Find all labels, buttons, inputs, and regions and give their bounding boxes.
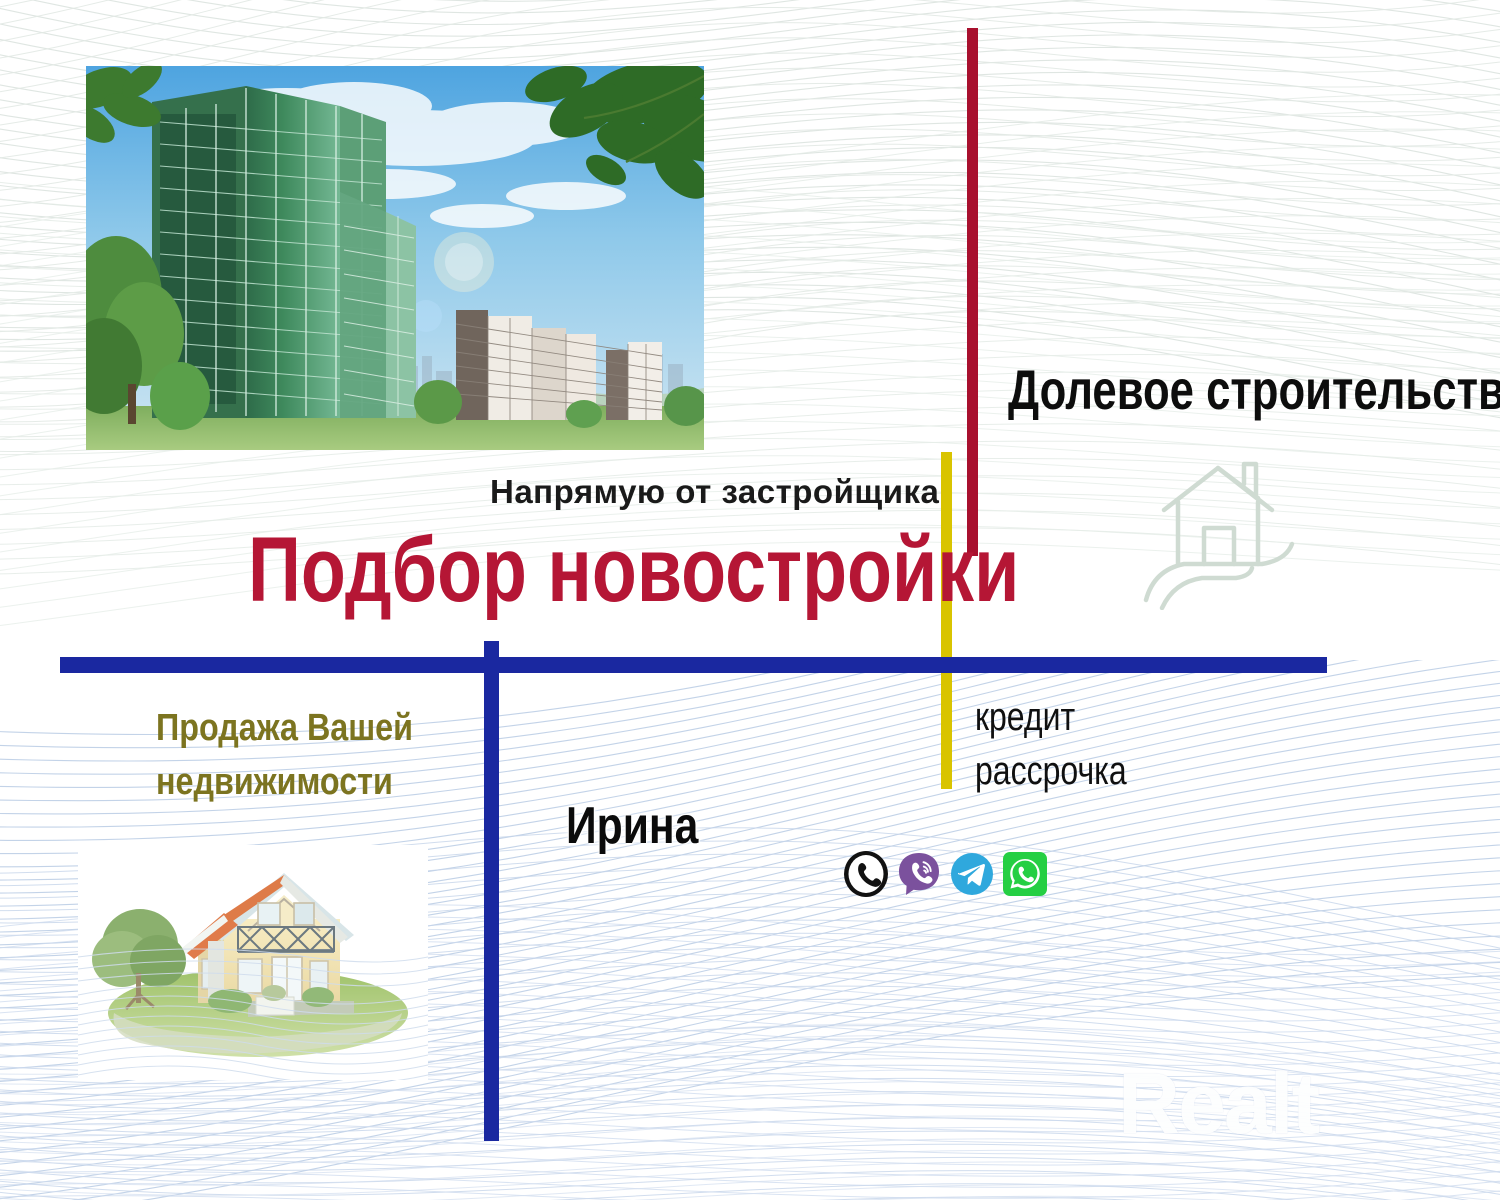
divider-blue-horizontal [60, 657, 1327, 673]
house-in-hand-icon [1140, 450, 1300, 610]
divider-red-vertical [967, 28, 978, 556]
realt-watermark: Realt [1118, 1055, 1318, 1154]
cottage-house-photo [78, 845, 428, 1080]
headline-small: Напрямую от застройщика [490, 473, 939, 511]
share-construction-label: Долевое строительство [1008, 362, 1500, 418]
installment-line: рассрочка [975, 744, 1127, 798]
sale-property-line2: недвижимости [156, 756, 413, 810]
phone-icon[interactable] [842, 850, 890, 898]
viber-icon[interactable] [895, 850, 943, 898]
sale-property-label: Продажа Вашей недвижимости [156, 702, 413, 810]
credit-terms-label: кредит рассрочка [975, 690, 1127, 798]
credit-line: кредит [975, 690, 1127, 744]
whatsapp-icon[interactable] [1001, 850, 1049, 898]
agent-name: Ирина [566, 796, 698, 856]
page-title: Подбор новостройки [248, 524, 1019, 616]
telegram-icon[interactable] [948, 850, 996, 898]
divider-blue-vertical [484, 641, 499, 1141]
poster-canvas: Напрямую от застройщика Подбор новострой… [0, 0, 1500, 1200]
contact-icons-row [842, 850, 1049, 898]
highrise-buildings-photo [86, 66, 704, 450]
sale-property-line1: Продажа Вашей [156, 702, 413, 756]
